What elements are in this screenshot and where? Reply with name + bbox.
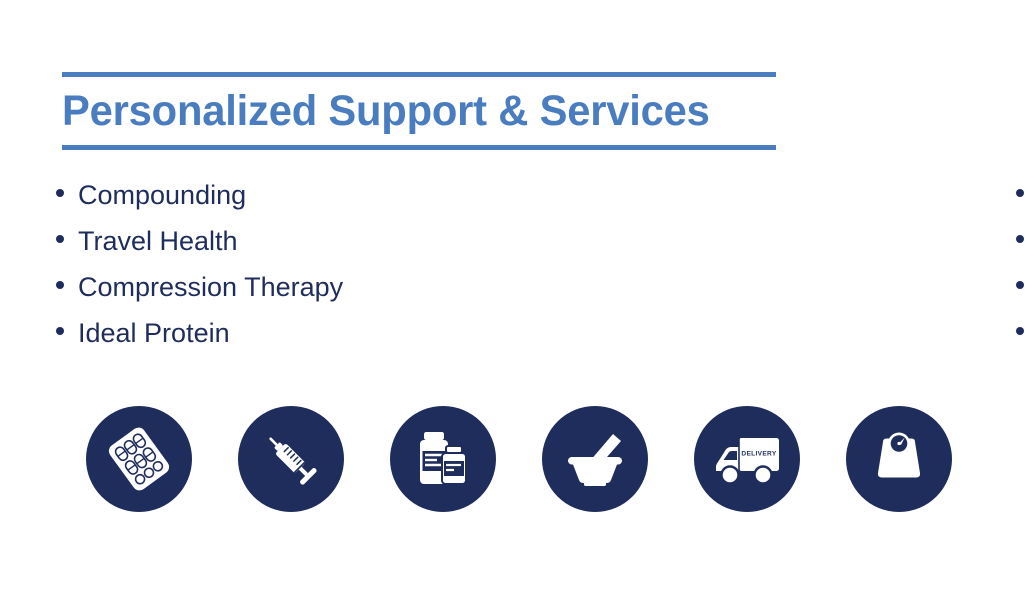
services-right-column: Injections and Immunizations Minor Ailme… [480,180,1025,364]
list-item: Injections and Immunizations [1016,180,1025,226]
icon-badge-mortar-pestle [542,406,648,512]
list-item: Compression Therapy [56,272,480,318]
services-lists: Compounding Travel Health Compression Th… [0,180,1025,364]
icon-badge-syringe [238,406,344,512]
bullet-dot-icon [1016,281,1024,289]
bullet-dot-icon [56,327,64,335]
delivery-truck-icon: DELIVERY [711,427,783,491]
bullet-dot-icon [56,235,64,243]
icon-badge-blister-pack [86,406,192,512]
list-item: Medication Reviews [1016,272,1025,318]
bullet-dot-icon [56,189,64,197]
list-item-label: Travel Health [78,226,238,257]
page-title: Personalized Support & Services [62,77,755,145]
slide-root: Personalized Support & Services Compound… [0,0,1025,590]
list-item-label: Ideal Protein [78,318,230,349]
icon-badge-weight-scale [846,406,952,512]
truck-delivery-label: DELIVERY [741,451,776,458]
list-item: Minor Ailments [1016,226,1025,272]
list-item-label: Compounding [78,180,246,211]
mortar-pestle-icon [561,425,629,493]
list-item: Accu-Pak Bubble Packaging [1016,318,1025,364]
bullet-dot-icon [56,281,64,289]
list-item-label: Compression Therapy [78,272,343,303]
pill-bottles-icon [411,427,475,491]
blister-pack-icon [106,426,172,492]
title-block: Personalized Support & Services [62,72,776,150]
icon-badge-delivery-truck: DELIVERY [694,406,800,512]
list-item: Compounding [56,180,480,226]
bullet-dot-icon [1016,327,1024,335]
services-right-list: Injections and Immunizations Minor Ailme… [1016,180,1025,364]
list-item: Travel Health [56,226,480,272]
icon-badge-pill-bottles [390,406,496,512]
bullet-dot-icon [1016,235,1024,243]
weight-scale-icon [868,428,930,490]
services-left-list: Compounding Travel Health Compression Th… [56,180,480,364]
title-rule-bottom [62,145,776,150]
syringe-icon [258,426,324,492]
services-left-column: Compounding Travel Health Compression Th… [0,180,480,364]
service-icon-row: DELIVERY [86,406,952,512]
list-item: Ideal Protein [56,318,480,364]
bullet-dot-icon [1016,189,1024,197]
